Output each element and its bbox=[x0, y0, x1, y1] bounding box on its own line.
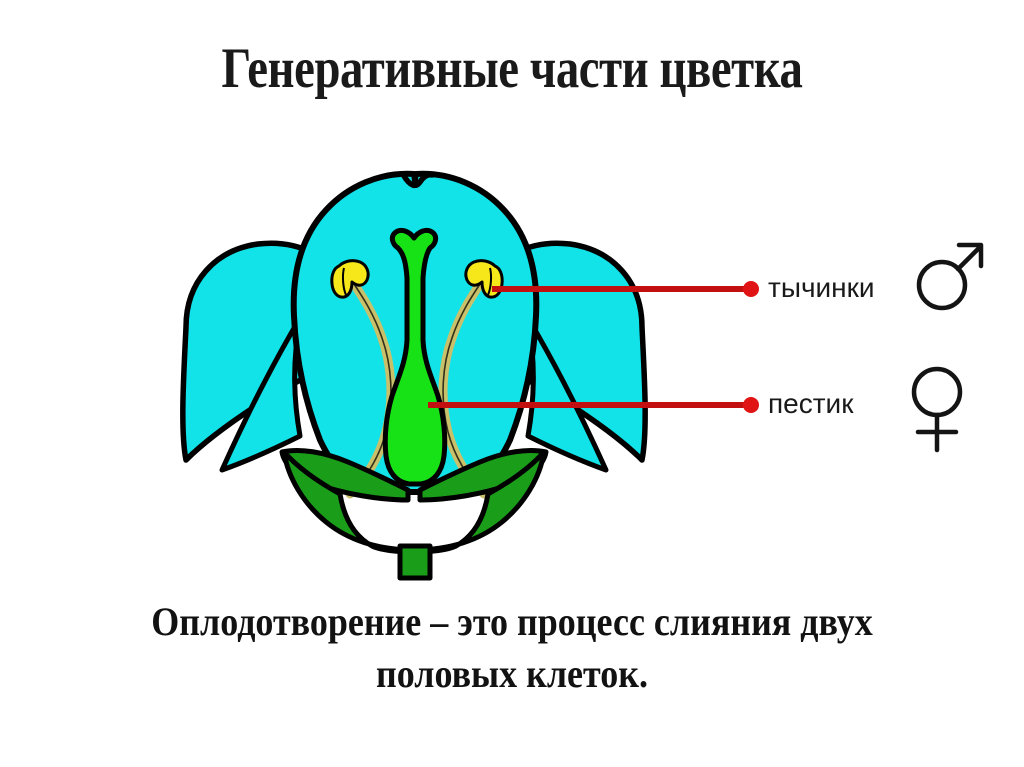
slide-canvas: Генеративные части цветка bbox=[0, 0, 1024, 767]
female-symbol-icon bbox=[914, 369, 960, 450]
male-symbol-icon bbox=[919, 245, 981, 308]
gender-symbols-group bbox=[0, 0, 1024, 767]
